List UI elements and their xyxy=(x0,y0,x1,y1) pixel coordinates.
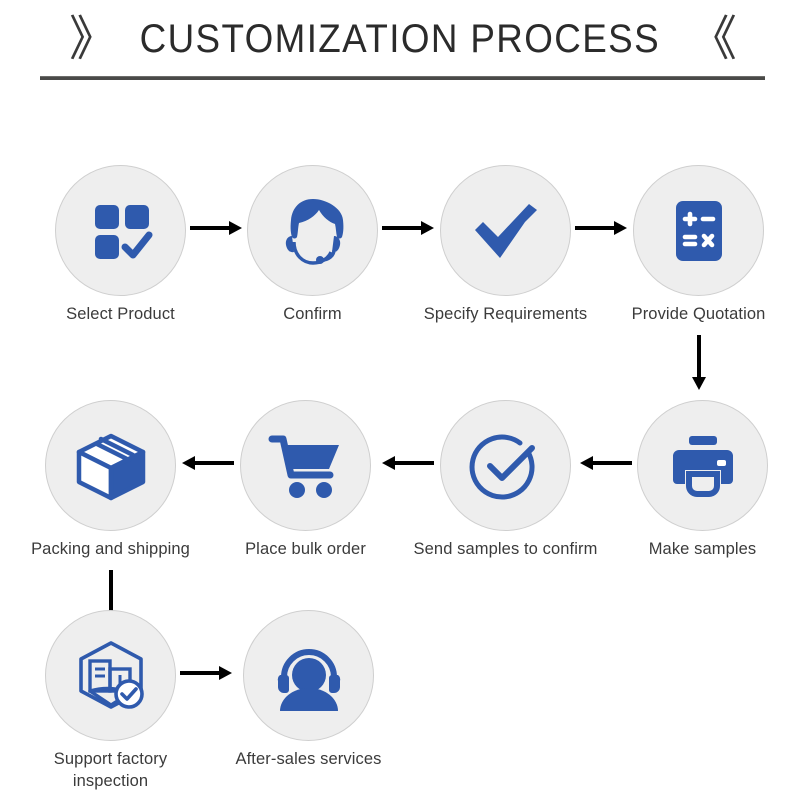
agent-headset-icon xyxy=(272,190,354,272)
step-bubble xyxy=(440,165,571,296)
customization-process-infographic: 》 CUSTOMIZATION PROCESS 《 Select Product xyxy=(0,0,800,800)
package-box-icon xyxy=(71,426,151,506)
calculator-icon xyxy=(663,195,735,267)
step-node-make-samples[interactable]: Make samples xyxy=(637,400,768,531)
checkmark-icon xyxy=(467,192,545,270)
connector-arrow-right xyxy=(382,221,434,235)
step-label: Send samples to confirm xyxy=(414,538,598,560)
step-label: Specify Requirements xyxy=(424,303,587,325)
step-bubble xyxy=(633,165,764,296)
page-header: 》 CUSTOMIZATION PROCESS 《 xyxy=(0,0,800,96)
factory-inspection-icon xyxy=(72,637,150,715)
headset-user-icon xyxy=(270,637,348,715)
title-divider xyxy=(40,76,765,80)
title-row: 》 CUSTOMIZATION PROCESS 《 xyxy=(0,8,800,70)
step-label: Support factory inspection xyxy=(36,748,186,793)
connector-arrow-right xyxy=(190,221,242,235)
step-node-confirm[interactable]: Confirm xyxy=(247,165,378,296)
step-label: After-sales services xyxy=(236,748,382,770)
step-label: Place bulk order xyxy=(245,538,366,560)
connector-arrow-right xyxy=(180,666,232,680)
step-node-specify-requirements[interactable]: Specify Requirements xyxy=(440,165,571,296)
step-bubble xyxy=(440,400,571,531)
step-node-provide-quotation[interactable]: Provide Quotation xyxy=(633,165,764,296)
step-bubble xyxy=(55,165,186,296)
step-bubble xyxy=(243,610,374,741)
circle-check-icon xyxy=(466,426,546,506)
connector-arrow-left xyxy=(182,456,234,470)
chevron-right-icon: 《 xyxy=(689,15,731,63)
step-node-packing-and-shipping[interactable]: Packing and shipping xyxy=(45,400,176,531)
connector-arrow-left xyxy=(580,456,632,470)
step-node-place-bulk-order[interactable]: Place bulk order xyxy=(240,400,371,531)
step-node-support-factory-inspection[interactable]: Support factory inspection xyxy=(45,610,176,741)
step-bubble xyxy=(45,610,176,741)
step-node-send-samples-to-confirm[interactable]: Send samples to confirm xyxy=(440,400,571,531)
grid-check-icon xyxy=(85,195,157,267)
step-label: Select Product xyxy=(66,303,175,325)
step-bubble xyxy=(247,165,378,296)
page-title: CUSTOMIZATION PROCESS xyxy=(140,17,660,62)
step-node-select-product[interactable]: Select Product xyxy=(55,165,186,296)
step-bubble xyxy=(637,400,768,531)
chevron-left-icon: 》 xyxy=(69,15,111,63)
step-bubble xyxy=(45,400,176,531)
connector-arrow-down xyxy=(692,335,706,390)
connector-arrow-right xyxy=(575,221,627,235)
step-node-after-sales-services[interactable]: After-sales services xyxy=(243,610,374,741)
connector-arrow-left xyxy=(382,456,434,470)
step-label: Confirm xyxy=(283,303,341,325)
shopping-cart-icon xyxy=(267,427,345,505)
step-bubble xyxy=(240,400,371,531)
step-label: Make samples xyxy=(649,538,757,560)
step-label: Packing and shipping xyxy=(31,538,190,560)
step-label: Provide Quotation xyxy=(632,303,766,325)
printer-icon xyxy=(665,428,741,504)
